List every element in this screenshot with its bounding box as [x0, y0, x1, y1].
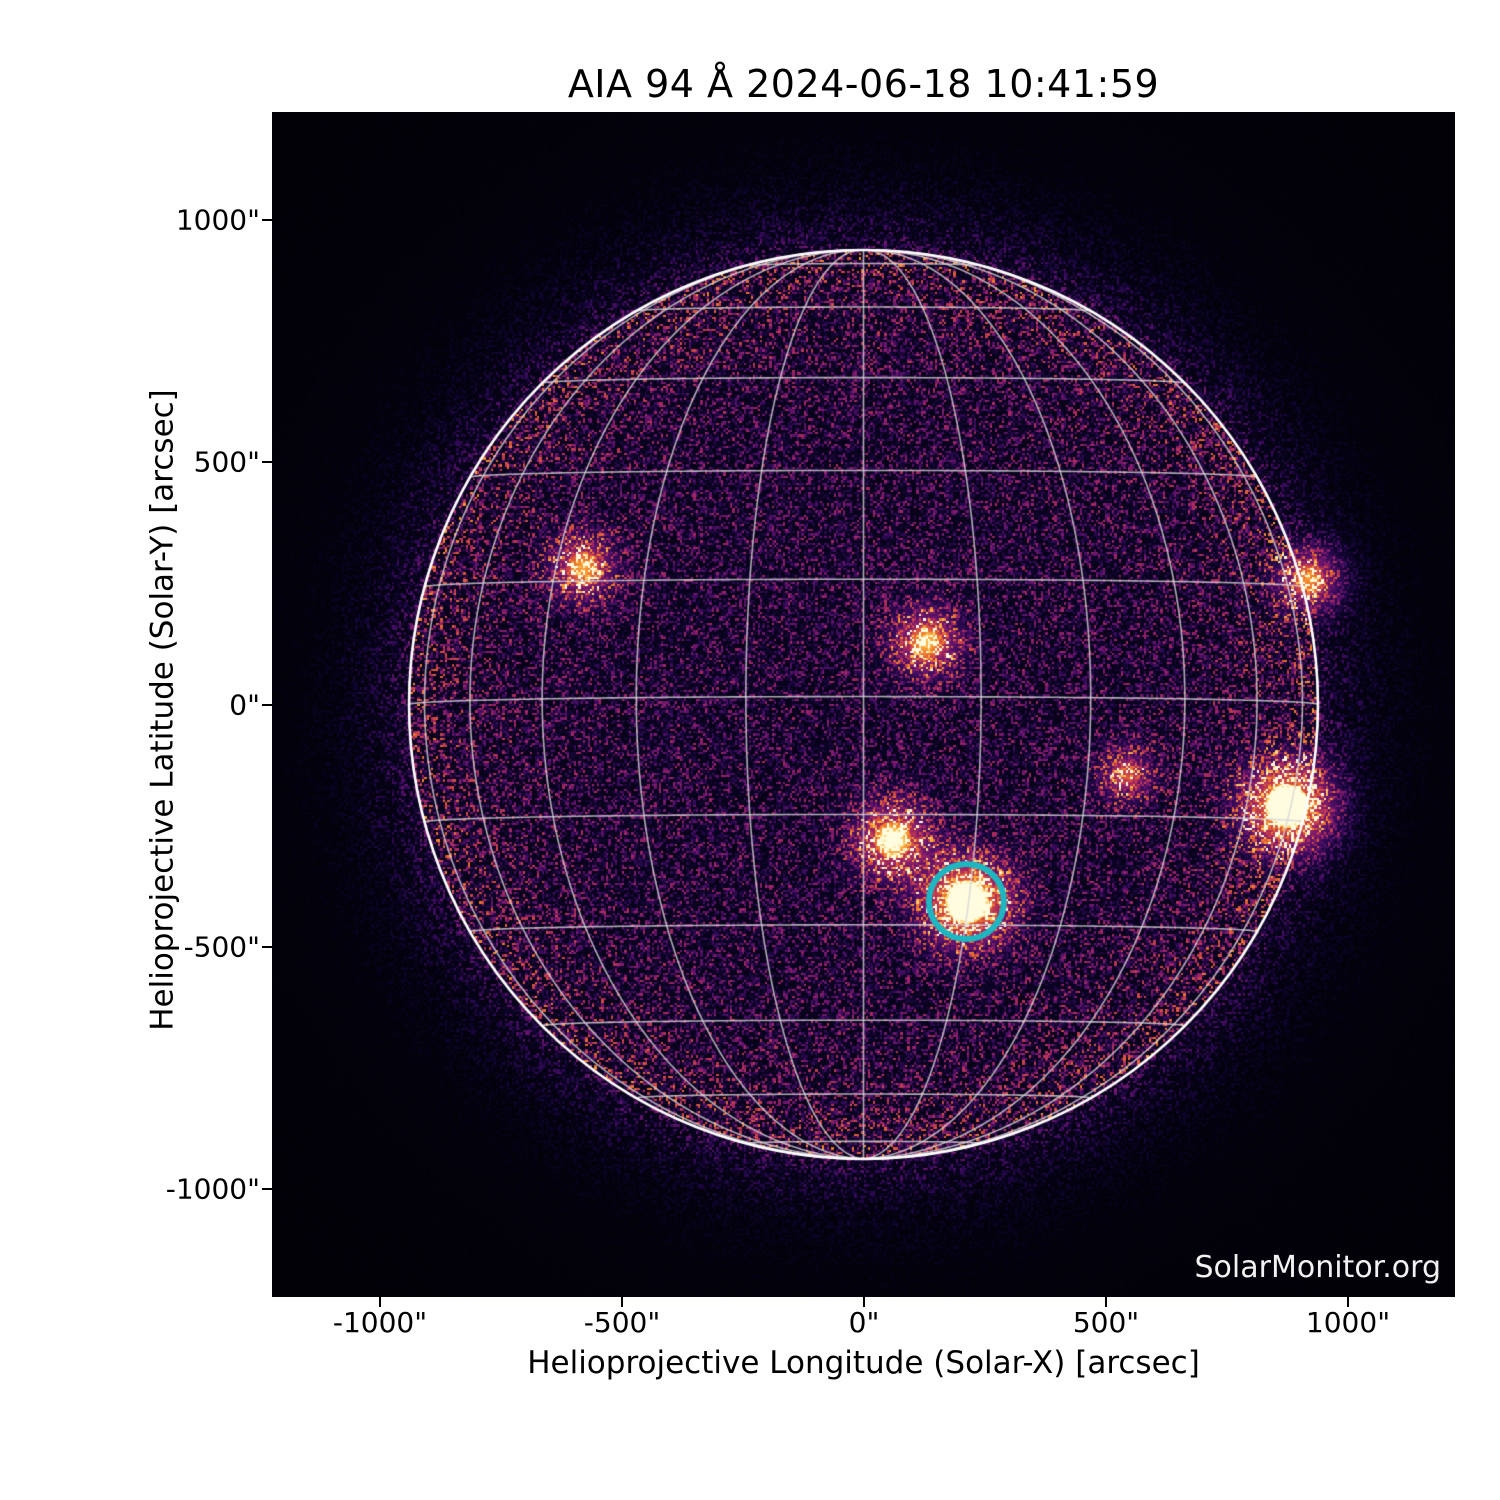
ytick-label-0: 0"	[229, 689, 260, 722]
solar-disk-image-panel: SolarMonitor.org	[272, 112, 1455, 1297]
x-axis-label: Helioprojective Longitude (Solar-X) [arc…	[272, 1345, 1455, 1381]
y-axis-label: Helioprojective Latitude (Solar-Y) [arcs…	[145, 118, 181, 1303]
solar-image-figure: AIA 94 Å 2024-06-18 10:41:59 1000" 500" …	[0, 0, 1500, 1500]
xtick-label-minus1000: -1000"	[333, 1306, 427, 1339]
xtick-label-1000: 1000"	[1306, 1306, 1390, 1339]
ytick-mark-minus1000	[262, 1188, 272, 1190]
watermark: SolarMonitor.org	[1195, 1250, 1441, 1285]
ytick-label-minus500: -500"	[184, 931, 260, 964]
ytick-label-500: 500"	[194, 446, 260, 479]
xtick-label-0: 0"	[849, 1306, 880, 1339]
ytick-mark-0	[262, 704, 272, 706]
ytick-mark-minus500	[262, 946, 272, 948]
xtick-label-minus500: -500"	[584, 1306, 660, 1339]
ytick-label-1000: 1000"	[176, 204, 260, 237]
ytick-mark-500	[262, 461, 272, 463]
solar-corona-image	[272, 112, 1455, 1297]
ytick-mark-1000	[262, 219, 272, 221]
page-title: AIA 94 Å 2024-06-18 10:41:59	[272, 62, 1455, 106]
xtick-label-500: 500"	[1073, 1306, 1139, 1339]
